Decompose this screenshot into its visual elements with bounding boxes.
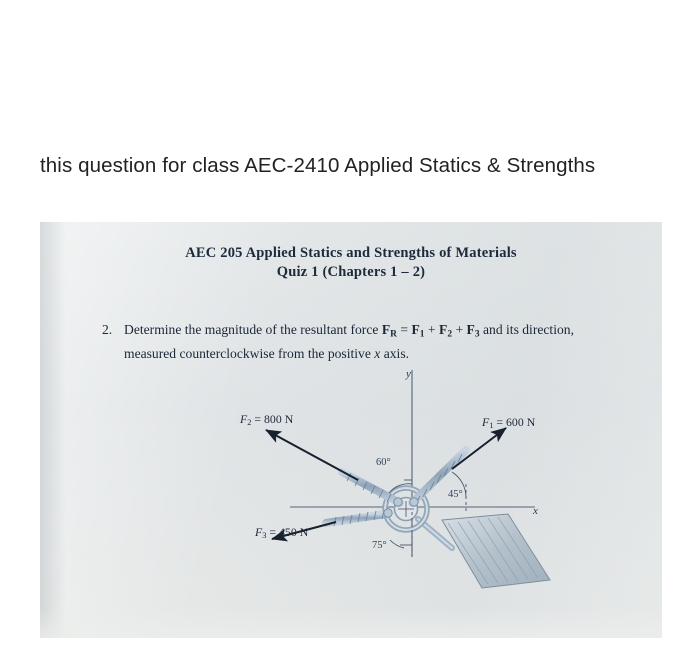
force-label-f3-magnitude: 450: [279, 525, 297, 539]
force-diagram-svg: [190, 362, 610, 612]
force-diagram-figure: F2 = 800 N F1 = 600 N F3 = 450 N 60° 45°…: [190, 362, 610, 612]
axis-label-y: y: [406, 368, 411, 380]
formula-f1-symbol: F: [411, 322, 419, 337]
force-label-f1-equals: =: [496, 415, 503, 429]
angle-label-75: 75°: [372, 540, 387, 551]
force-label-f1-sub: 1: [489, 420, 493, 430]
angle-label-60: 60°: [376, 457, 391, 468]
force-arrow-f1: [452, 428, 506, 469]
force-label-f2-unit: N: [285, 412, 294, 426]
force-label-f3-sub: 3: [262, 530, 266, 540]
formula-fr-symbol: F: [382, 322, 390, 337]
formula-plus-2: +: [452, 322, 466, 337]
force-label-f2-equals: =: [254, 412, 261, 426]
force-label-f2-sub: 2: [247, 417, 251, 427]
formula-fr: FR: [382, 322, 397, 337]
problem-text-part3: axis.: [380, 346, 409, 361]
force-label-f2: F2 = 800 N: [240, 412, 293, 427]
problem-text-part1: Determine the magnitude of the resultant…: [124, 322, 382, 337]
heading-line-1: AEC 205 Applied Statics and Strengths of…: [185, 245, 517, 261]
formula-f3: F3: [467, 322, 480, 337]
force-label-f3-equals: =: [269, 525, 276, 539]
formula-equals: =: [397, 322, 411, 337]
force-label-f3: F3 = 450 N: [255, 525, 308, 540]
axis-label-x: x: [533, 505, 538, 517]
heading-line-2: Quiz 1 (Chapters 1 – 2): [40, 263, 662, 282]
document-heading: AEC 205 Applied Statics and Strengths of…: [40, 244, 662, 282]
force-label-f1-magnitude: 600: [506, 415, 524, 429]
angle-label-45: 45°: [448, 489, 463, 500]
quiz-photo-panel: AEC 205 Applied Statics and Strengths of…: [40, 222, 662, 638]
force-arrow-f2: [266, 430, 358, 480]
question-prompt-text: this question for class AEC-2410 Applied…: [40, 152, 648, 180]
formula-plus-1: +: [425, 322, 439, 337]
force-label-f3-unit: N: [300, 525, 309, 539]
bracket-plate: [418, 514, 550, 588]
problem-number: 2.: [102, 320, 112, 339]
force-label-f1: F1 = 600 N: [482, 415, 535, 430]
cable-strand-f3: [326, 509, 392, 526]
formula-fr-sub: R: [390, 329, 397, 339]
formula-f2: F2: [439, 322, 452, 337]
photo-shadow-left: [40, 222, 66, 638]
problem-statement: 2. Determine the magnitude of the result…: [102, 320, 602, 363]
problem-text: Determine the magnitude of the resultant…: [124, 320, 602, 363]
force-label-f2-magnitude: 800: [264, 412, 282, 426]
formula-f1: F1: [411, 322, 424, 337]
force-label-f1-unit: N: [527, 415, 536, 429]
photo-shadow-bottom: [40, 608, 662, 638]
formula-f3-symbol: F: [467, 322, 475, 337]
